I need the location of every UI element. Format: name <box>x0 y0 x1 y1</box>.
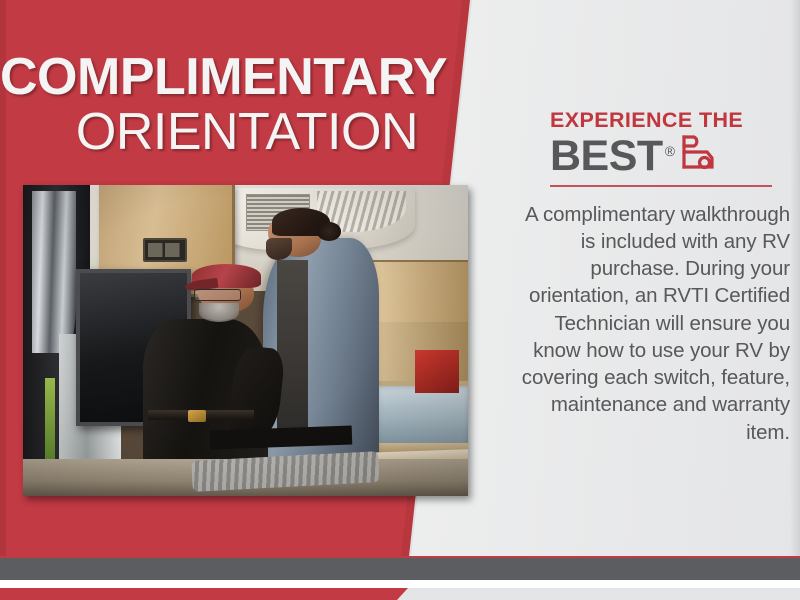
rv-door-glass <box>32 191 77 353</box>
technician-glasses <box>194 289 241 300</box>
rv-red-accent <box>415 350 460 394</box>
rv-wall-switch-panel <box>143 238 187 262</box>
page-title: COMPLIMENTARY ORIENTATION <box>0 52 440 158</box>
orientation-photo <box>23 185 468 496</box>
technician-belt-buckle <box>188 410 207 422</box>
technician-beard <box>199 303 239 322</box>
right-content-column: EXPERIENCE THE BEST ® A compl <box>505 110 790 466</box>
footer-white-gap <box>0 580 800 588</box>
promo-poster: COMPLIMENTARY ORIENTATION <box>0 0 800 600</box>
background-right-shadow <box>790 0 800 556</box>
footer-gray-bar <box>0 558 800 580</box>
photo-scene <box>23 185 468 496</box>
logo-top-text: EXPERIENCE THE <box>550 110 785 132</box>
body-copy-text: A complimentary walkthrough is included … <box>505 201 790 446</box>
logo-best-text: BEST <box>550 137 663 177</box>
headline-line-1: COMPLIMENTARY <box>0 52 418 103</box>
registered-trademark-icon: ® <box>665 143 675 159</box>
headline-line-2: ORIENTATION <box>0 107 418 158</box>
logo-bottom-row: BEST ® <box>550 133 785 177</box>
customer-hair-bun <box>317 222 341 241</box>
logo-underline-rule <box>550 185 772 187</box>
customer-shirt <box>277 260 308 447</box>
rv-door-green-strip <box>45 378 55 465</box>
footer-bottom-red-wedge <box>0 588 420 600</box>
rv-motorhome-icon <box>680 133 714 176</box>
experience-the-best-logo: EXPERIENCE THE BEST ® <box>550 110 785 187</box>
